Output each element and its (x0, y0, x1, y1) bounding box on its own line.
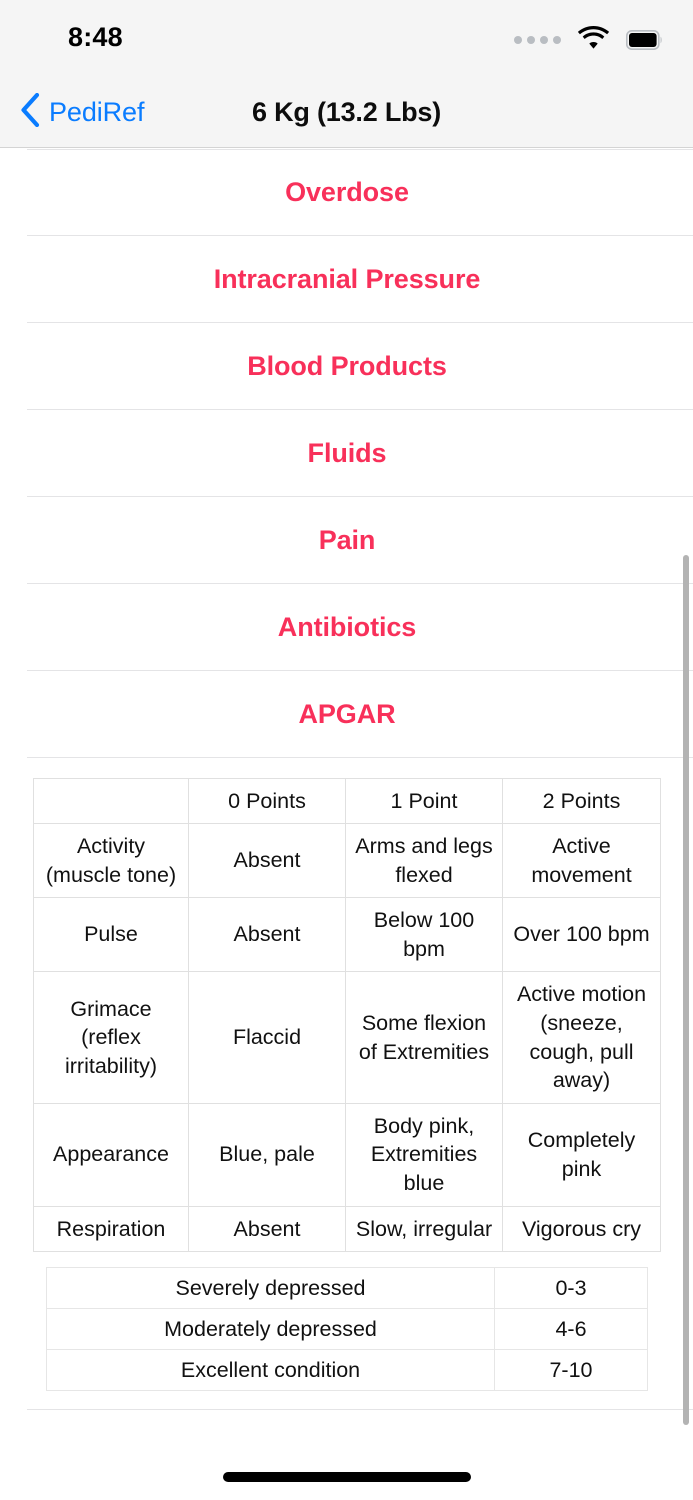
table-header-cell (34, 779, 189, 824)
menu-item-label: Overdose (285, 177, 409, 208)
table-cell-2points: Completely pink (503, 1103, 661, 1206)
cellular-dots-icon (514, 36, 561, 44)
table-cell-2points: Active movement (503, 824, 661, 898)
menu-item-label: Intracranial Pressure (214, 264, 481, 295)
table-row: Appearance Blue, pale Body pink, Extremi… (34, 1103, 661, 1206)
menu-item-antibiotics[interactable]: Antibiotics (27, 584, 693, 671)
table-row: Excellent condition 7-10 (47, 1350, 648, 1391)
table-cell-0points: Blue, pale (189, 1103, 346, 1206)
table-cell-2points: Active motion (sneeze, cough, pull away) (503, 972, 661, 1103)
table-cell-range: 4-6 (495, 1309, 648, 1350)
table-cell-condition: Excellent condition (47, 1350, 495, 1391)
home-bar-area (0, 1430, 693, 1500)
table-cell-1point: Slow, irregular (346, 1206, 503, 1252)
table-header-cell: 0 Points (189, 779, 346, 824)
menu-item-label: Fluids (308, 438, 387, 469)
status-bar-clock: 8:48 (68, 22, 123, 53)
table-cell-0points: Absent (189, 898, 346, 972)
table-cell-1point: Arms and legs flexed (346, 824, 503, 898)
wifi-icon (578, 26, 609, 54)
menu-item-blood-products[interactable]: Blood Products (27, 323, 693, 410)
table-cell-0points: Absent (189, 824, 346, 898)
back-button-label: PediRef (49, 97, 144, 128)
apgar-score-table: 0 Points 1 Point 2 Points Activity (musc… (33, 778, 661, 1252)
table-cell-sign: Activity (muscle tone) (34, 824, 189, 898)
menu-item-label: Antibiotics (278, 612, 416, 643)
table-cell-1point: Body pink, Extremities blue (346, 1103, 503, 1206)
menu-item-label: APGAR (298, 699, 395, 730)
table-cell-1point: Below 100 bpm (346, 898, 503, 972)
apgar-section: 0 Points 1 Point 2 Points Activity (musc… (27, 778, 693, 1410)
scrollbar-thumb[interactable] (683, 555, 689, 1425)
battery-full-icon (626, 30, 663, 50)
table-row: Severely depressed 0-3 (47, 1268, 648, 1309)
table-cell-condition: Severely depressed (47, 1268, 495, 1309)
table-cell-0points: Absent (189, 1206, 346, 1252)
table-cell-sign: Appearance (34, 1103, 189, 1206)
table-cell-sign: Grimace (reflex irritability) (34, 972, 189, 1103)
back-button[interactable]: PediRef (20, 76, 144, 148)
apgar-interpretation-table: Severely depressed 0-3 Moderately depres… (46, 1267, 648, 1391)
table-cell-1point: Some flexion of Extremities (346, 972, 503, 1103)
menu-item-pain[interactable]: Pain (27, 497, 693, 584)
status-bar: 8:48 (0, 0, 693, 76)
table-row: Grimace (reflex irritability) Flaccid So… (34, 972, 661, 1103)
table-cell-condition: Moderately depressed (47, 1309, 495, 1350)
table-cell-0points: Flaccid (189, 972, 346, 1103)
table-header-cell: 2 Points (503, 779, 661, 824)
menu-item-apgar[interactable]: APGAR (27, 671, 693, 758)
table-row: Activity (muscle tone) Absent Arms and l… (34, 824, 661, 898)
table-header-row: 0 Points 1 Point 2 Points (34, 779, 661, 824)
menu-item-overdose[interactable]: Overdose (27, 149, 693, 236)
menu-item-fluids[interactable]: Fluids (27, 410, 693, 497)
navigation-bar: 6 Kg (13.2 Lbs) PediRef (0, 76, 693, 148)
table-cell-2points: Over 100 bpm (503, 898, 661, 972)
table-cell-range: 7-10 (495, 1350, 648, 1391)
table-row: Pulse Absent Below 100 bpm Over 100 bpm (34, 898, 661, 972)
table-cell-sign: Respiration (34, 1206, 189, 1252)
table-row: Respiration Absent Slow, irregular Vigor… (34, 1206, 661, 1252)
menu-item-intracranial-pressure[interactable]: Intracranial Pressure (27, 236, 693, 323)
menu-item-label: Blood Products (247, 351, 447, 382)
table-row: Moderately depressed 4-6 (47, 1309, 648, 1350)
menu-item-label: Pain (319, 525, 376, 556)
table-cell-sign: Pulse (34, 898, 189, 972)
table-cell-range: 0-3 (495, 1268, 648, 1309)
home-indicator[interactable] (223, 1472, 471, 1482)
table-cell-2points: Vigorous cry (503, 1206, 661, 1252)
scroll-content: Overdose Intracranial Pressure Blood Pro… (0, 149, 693, 1430)
chevron-left-icon (20, 93, 40, 132)
status-bar-indicators (514, 26, 663, 54)
table-header-cell: 1 Point (346, 779, 503, 824)
